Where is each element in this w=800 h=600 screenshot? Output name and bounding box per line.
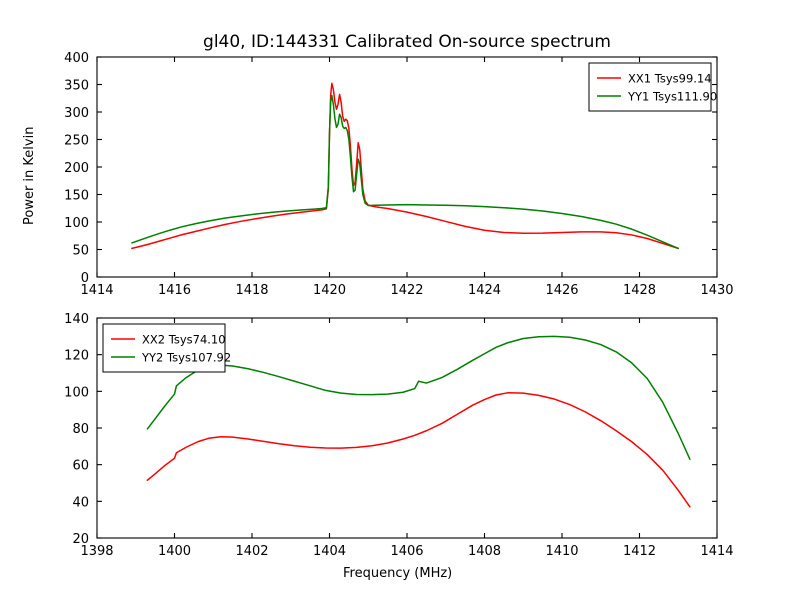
x-tick-label: 1414 xyxy=(700,544,733,559)
y-tick-label: 250 xyxy=(64,134,89,149)
legend-label: XX1 Tsys99.14 xyxy=(628,72,712,86)
x-tick-label: 1400 xyxy=(158,544,191,559)
y-tick-label: 200 xyxy=(64,161,89,176)
x-tick-label: 1420 xyxy=(313,283,346,298)
y-tick-label: 120 xyxy=(64,349,89,364)
matplotlib-figure: gl40, ID:144331 Calibrated On-source spe… xyxy=(0,0,800,600)
x-tick-label: 1424 xyxy=(468,283,501,298)
y-tick-label: 140 xyxy=(64,312,89,327)
legend: XX1 Tsys99.14YY1 Tsys111.90 xyxy=(589,63,717,111)
legend-frame xyxy=(103,324,225,372)
x-tick-label: 1410 xyxy=(545,544,578,559)
x-tick-label: 1430 xyxy=(700,283,733,298)
legend-frame xyxy=(589,63,711,111)
plot-canvas: 1414141614181420142214241426142814300501… xyxy=(0,0,800,600)
y-tick-label: 80 xyxy=(72,422,89,437)
x-tick-label: 1426 xyxy=(545,283,578,298)
x-tick-label: 1428 xyxy=(623,283,656,298)
y-tick-label: 300 xyxy=(64,106,89,121)
legend-label: YY1 Tsys111.90 xyxy=(627,90,717,104)
legend-label: YY2 Tsys107.92 xyxy=(141,351,231,365)
y-tick-label: 0 xyxy=(81,271,89,286)
panel-bottom-panel: 1398140014021404140614081410141214142040… xyxy=(64,312,733,559)
y-tick-label: 50 xyxy=(72,244,89,259)
panel-top-panel: 1414141614181420142214241426142814300501… xyxy=(64,51,733,298)
y-tick-label: 40 xyxy=(72,495,89,510)
y-tick-label: 150 xyxy=(64,189,89,204)
x-tick-label: 1416 xyxy=(158,283,191,298)
y-tick-label: 350 xyxy=(64,79,89,94)
y-tick-label: 60 xyxy=(72,459,89,474)
legend-label: XX2 Tsys74.10 xyxy=(142,333,226,347)
x-tick-label: 1408 xyxy=(468,544,501,559)
y-tick-label: 20 xyxy=(72,532,89,547)
x-tick-label: 1418 xyxy=(235,283,268,298)
y-tick-label: 100 xyxy=(64,216,89,231)
x-tick-label: 1422 xyxy=(390,283,423,298)
y-tick-label: 100 xyxy=(64,385,89,400)
x-tick-label: 1402 xyxy=(235,544,268,559)
legend: XX2 Tsys74.10YY2 Tsys107.92 xyxy=(103,324,231,372)
x-tick-label: 1412 xyxy=(623,544,656,559)
x-tick-label: 1406 xyxy=(390,544,423,559)
y-tick-label: 400 xyxy=(64,51,89,66)
x-tick-label: 1404 xyxy=(313,544,346,559)
